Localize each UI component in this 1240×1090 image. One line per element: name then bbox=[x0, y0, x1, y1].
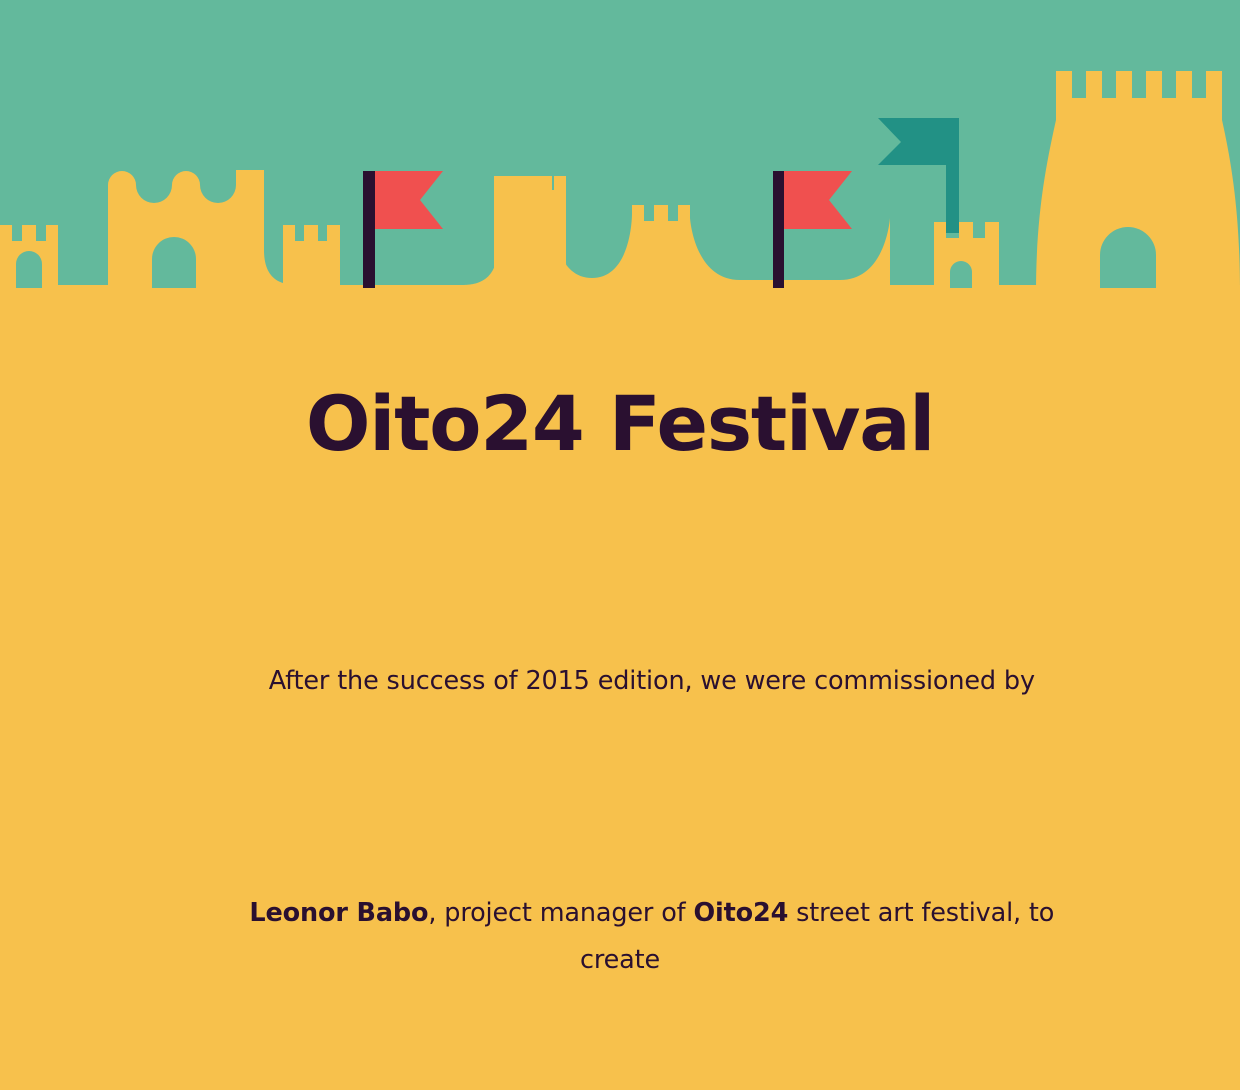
small-tower-3 bbox=[632, 205, 690, 293]
intro-paragraph: After the success of 2015 edition, we we… bbox=[168, 518, 1073, 1090]
flag-pole bbox=[773, 171, 784, 293]
intro-line-1: After the success of 2015 edition, we we… bbox=[168, 611, 1073, 751]
leonor-babo-name: Leonor Babo bbox=[249, 898, 428, 928]
castle-arch-door bbox=[16, 251, 42, 293]
right-keep-tower bbox=[1036, 71, 1240, 293]
flag-pole bbox=[363, 171, 375, 293]
content-area: Oito24 Festival After the success of 201… bbox=[0, 293, 1240, 1090]
intro-line-2: Leonor Babo, project manager of Oito24 s… bbox=[168, 844, 1073, 1030]
center-battlement-tower bbox=[494, 176, 552, 293]
flag-pole-teal bbox=[946, 118, 959, 233]
wall-scoop-left bbox=[236, 170, 264, 293]
hero-illustration bbox=[0, 0, 1240, 293]
page-title: Oito24 Festival bbox=[90, 293, 1150, 462]
castle-arch-door bbox=[1100, 227, 1156, 293]
left-small-tower bbox=[0, 225, 58, 293]
castle-arch-door bbox=[152, 237, 196, 293]
page-root: Oito24 Festival After the success of 201… bbox=[0, 0, 1240, 1090]
small-tower-2 bbox=[283, 225, 340, 293]
small-tower-4 bbox=[934, 222, 999, 293]
intro-segment-2: , project manager of bbox=[428, 898, 693, 928]
intro-line-1-text: After the success of 2015 edition, we we… bbox=[269, 666, 1035, 696]
oito24-brand: Oito24 bbox=[693, 898, 788, 928]
